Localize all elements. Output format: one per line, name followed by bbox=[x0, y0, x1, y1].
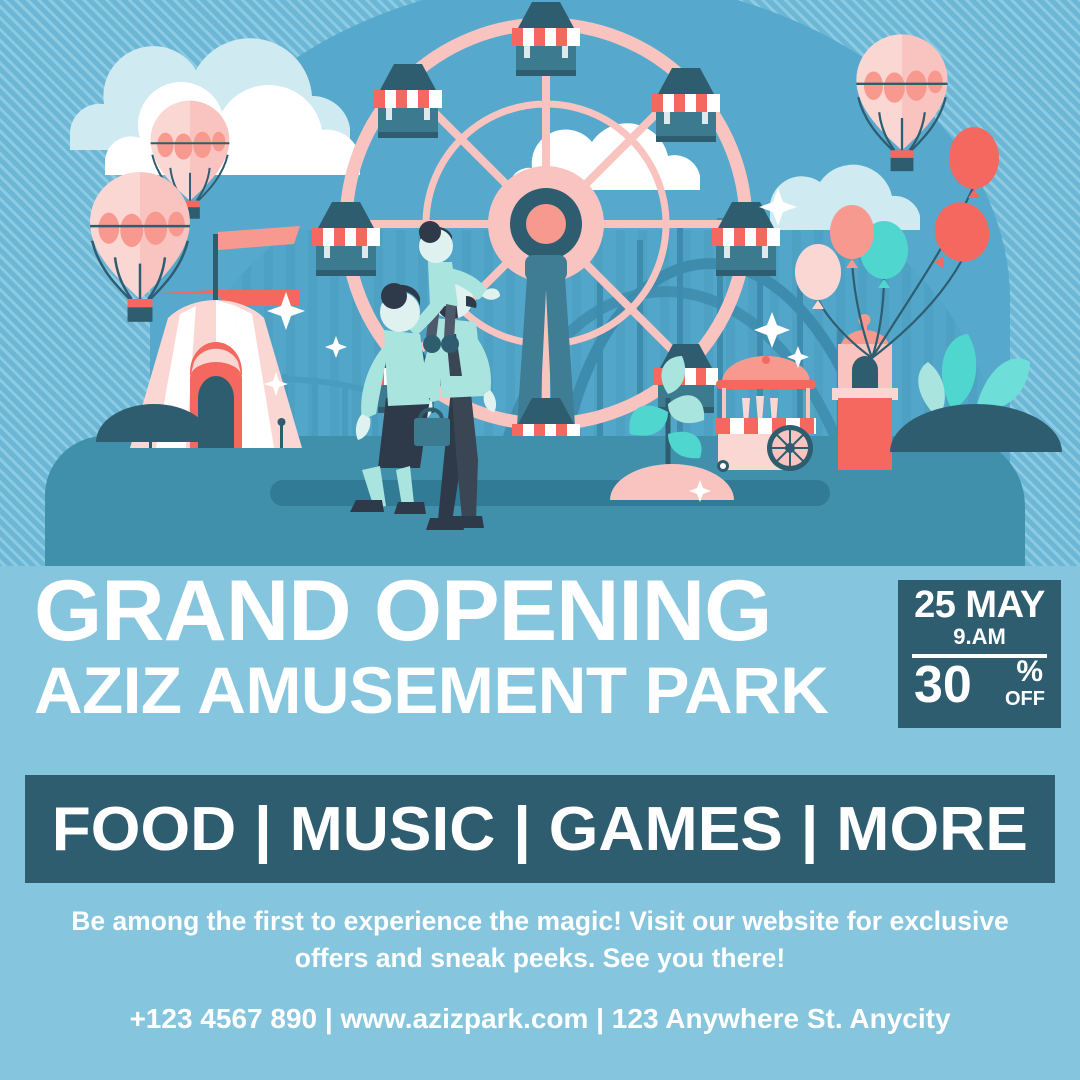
badge-percent-icon: % bbox=[1016, 657, 1043, 687]
date-discount-badge: 25 MAY 9.AM 30 % OFF bbox=[898, 580, 1061, 728]
illustration-svg bbox=[0, 0, 1080, 566]
promotional-poster: GRAND OPENING AZIZ AMUSEMENT PARK 25 MAY… bbox=[0, 0, 1080, 1080]
features-strip-text: FOOD | MUSIC | GAMES | MORE bbox=[52, 794, 1028, 865]
page-subtitle: AZIZ AMUSEMENT PARK bbox=[34, 657, 881, 723]
poster-content: GRAND OPENING AZIZ AMUSEMENT PARK 25 MAY… bbox=[0, 566, 1080, 1080]
headline-row: GRAND OPENING AZIZ AMUSEMENT PARK 25 MAY… bbox=[0, 566, 1080, 756]
badge-time: 9.AM bbox=[898, 625, 1061, 649]
badge-discount-row: 30 % OFF bbox=[898, 662, 1061, 720]
headline-block: GRAND OPENING AZIZ AMUSEMENT PARK bbox=[34, 572, 864, 723]
badge-discount-number: 30 bbox=[914, 659, 972, 711]
badge-date: 25 MAY bbox=[898, 586, 1061, 624]
contact-line: +123 4567 890 | www.azizpark.com | 123 A… bbox=[60, 1003, 1020, 1035]
description-paragraph: Be among the first to experience the mag… bbox=[60, 903, 1020, 976]
amusement-park-illustration bbox=[0, 0, 1080, 566]
features-strip: FOOD | MUSIC | GAMES | MORE bbox=[25, 775, 1055, 883]
page-title: GRAND OPENING bbox=[34, 572, 881, 651]
badge-off-label: OFF bbox=[1005, 689, 1045, 709]
